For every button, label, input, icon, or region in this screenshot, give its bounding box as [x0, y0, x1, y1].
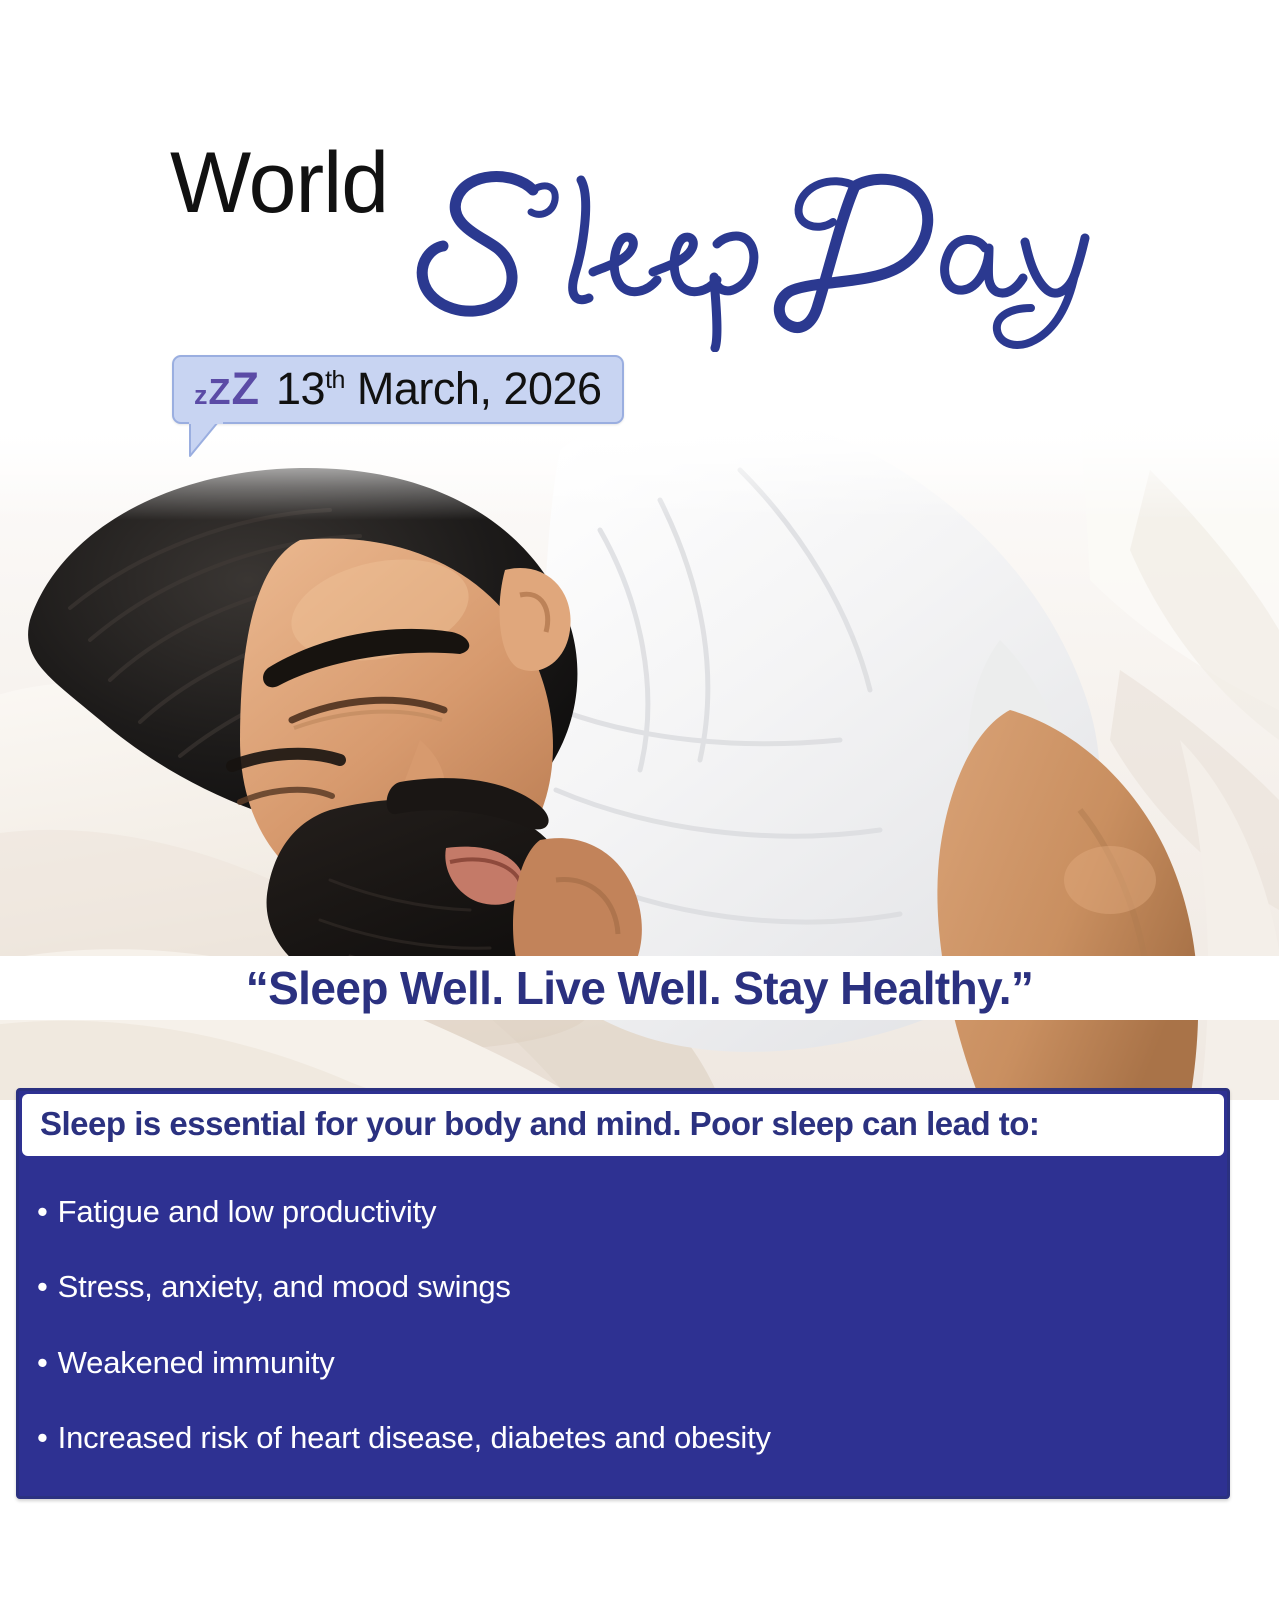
list-item-label: Fatigue and low productivity — [58, 1194, 437, 1229]
poster-title: World — [0, 118, 1279, 348]
bullet-icon: • — [37, 1419, 48, 1456]
date-day-number: 13 — [276, 363, 325, 414]
bullet-icon: • — [37, 1268, 48, 1305]
date-month-year: March, 2026 — [345, 363, 602, 414]
zzz-z-medium: Z — [209, 371, 232, 412]
list-item: •Stress, anxiety, and mood swings — [37, 1268, 1209, 1343]
tagline-band: “Sleep Well. Live Well. Stay Healthy.” — [0, 956, 1279, 1020]
title-plain-word: World — [170, 140, 388, 226]
date-speech-bubble: zZZ 13th March, 2026 — [172, 355, 624, 424]
event-date: 13th March, 2026 — [276, 366, 602, 411]
date-badge: zZZ 13th March, 2026 — [172, 355, 624, 424]
info-box-header: Sleep is essential for your body and min… — [22, 1094, 1224, 1156]
info-box: Sleep is essential for your body and min… — [16, 1088, 1230, 1499]
world-sleep-day-poster: World — [0, 0, 1279, 1600]
zzz-z-small: z — [194, 380, 209, 410]
bullet-icon: • — [37, 1193, 48, 1230]
zzz-z-large: Z — [232, 363, 261, 414]
list-item: •Increased risk of heart disease, diabet… — [37, 1419, 1209, 1456]
list-item: •Fatigue and low productivity — [37, 1193, 1209, 1268]
sleep-day-script-art — [385, 162, 1105, 352]
date-day-suffix: th — [325, 366, 345, 394]
title-script-word — [385, 162, 1105, 352]
poor-sleep-effects-list: •Fatigue and low productivity •Stress, a… — [19, 1159, 1227, 1496]
zzz-icon: zZZ — [194, 366, 260, 411]
tagline-text: “Sleep Well. Live Well. Stay Healthy.” — [246, 965, 1034, 1011]
speech-bubble-tail-icon — [188, 420, 238, 460]
list-item-label: Weakened immunity — [58, 1345, 335, 1380]
bullet-icon: • — [37, 1344, 48, 1381]
list-item-label: Increased risk of heart disease, diabete… — [58, 1420, 771, 1455]
info-header-text: Sleep is essential for your body and min… — [40, 1106, 1206, 1142]
list-item: •Weakened immunity — [37, 1344, 1209, 1419]
list-item-label: Stress, anxiety, and mood swings — [58, 1269, 511, 1304]
